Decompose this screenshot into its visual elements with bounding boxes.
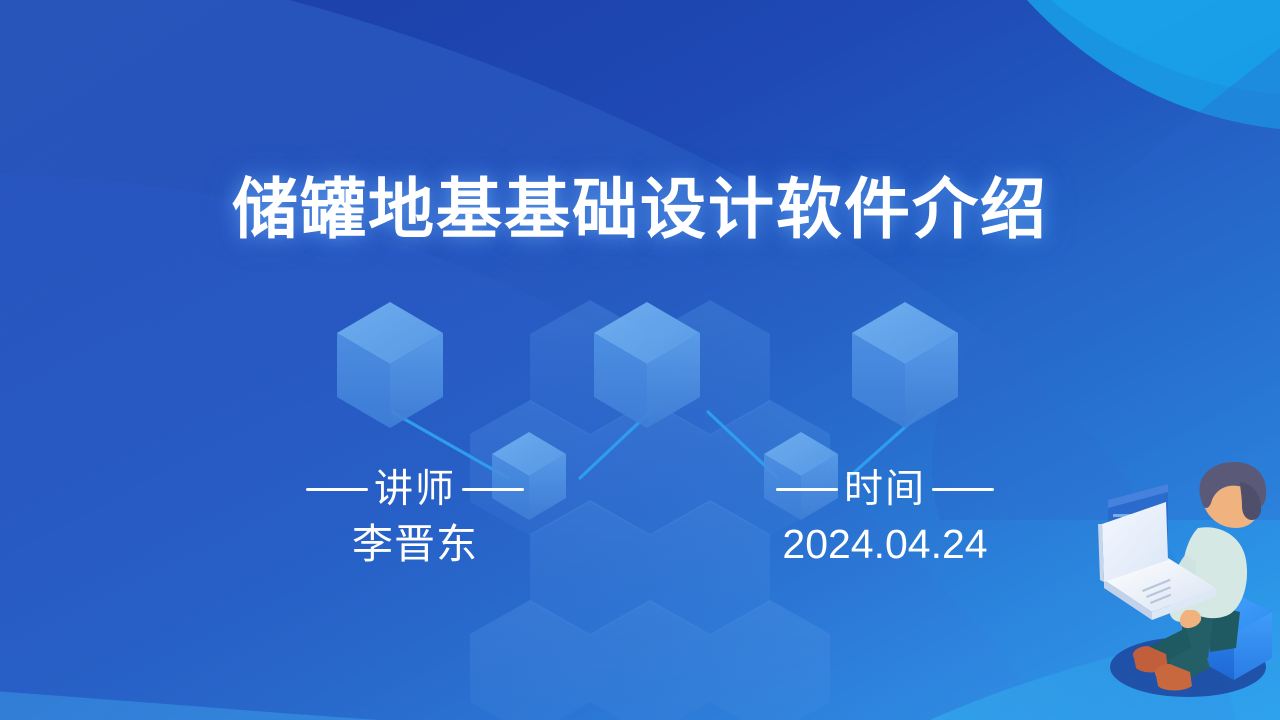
meta-block-speaker: 讲师 李晋东 (250, 466, 580, 567)
slide-meta-row: 讲师 李晋东 时间 2024.04.24 (250, 466, 1050, 567)
speaker-rule-left (306, 488, 368, 491)
speaker-rule-right (462, 488, 524, 491)
speaker-heading: 讲师 (250, 466, 580, 512)
presentation-slide: 储罐地基基础设计软件介绍 讲师 李晋东 时间 2024.04.24 (0, 0, 1280, 720)
date-heading: 时间 (720, 466, 1050, 512)
person-with-laptop-illustration (1090, 462, 1280, 712)
laptop (1098, 502, 1216, 620)
floating-ui-panel (1108, 484, 1168, 560)
floor-shadow (1110, 637, 1266, 697)
person-legs (1150, 604, 1240, 684)
speaker-label: 讲师 (374, 470, 456, 509)
date-label: 时间 (844, 470, 926, 509)
meta-block-date: 时间 2024.04.24 (720, 466, 1050, 567)
date-rule-right (932, 488, 994, 491)
page-title: 储罐地基基础设计软件介绍 (0, 176, 1280, 242)
speaker-name: 李晋东 (250, 522, 580, 567)
date-rule-left (776, 488, 838, 491)
date-value: 2024.04.24 (720, 522, 1050, 567)
seat-cube (1198, 594, 1272, 680)
person-torso (1170, 527, 1247, 618)
person-shoes (1133, 646, 1192, 691)
person-head (1199, 462, 1266, 528)
background-waves (0, 0, 1280, 720)
person-hand (1180, 610, 1201, 628)
person-arm (1170, 582, 1206, 622)
